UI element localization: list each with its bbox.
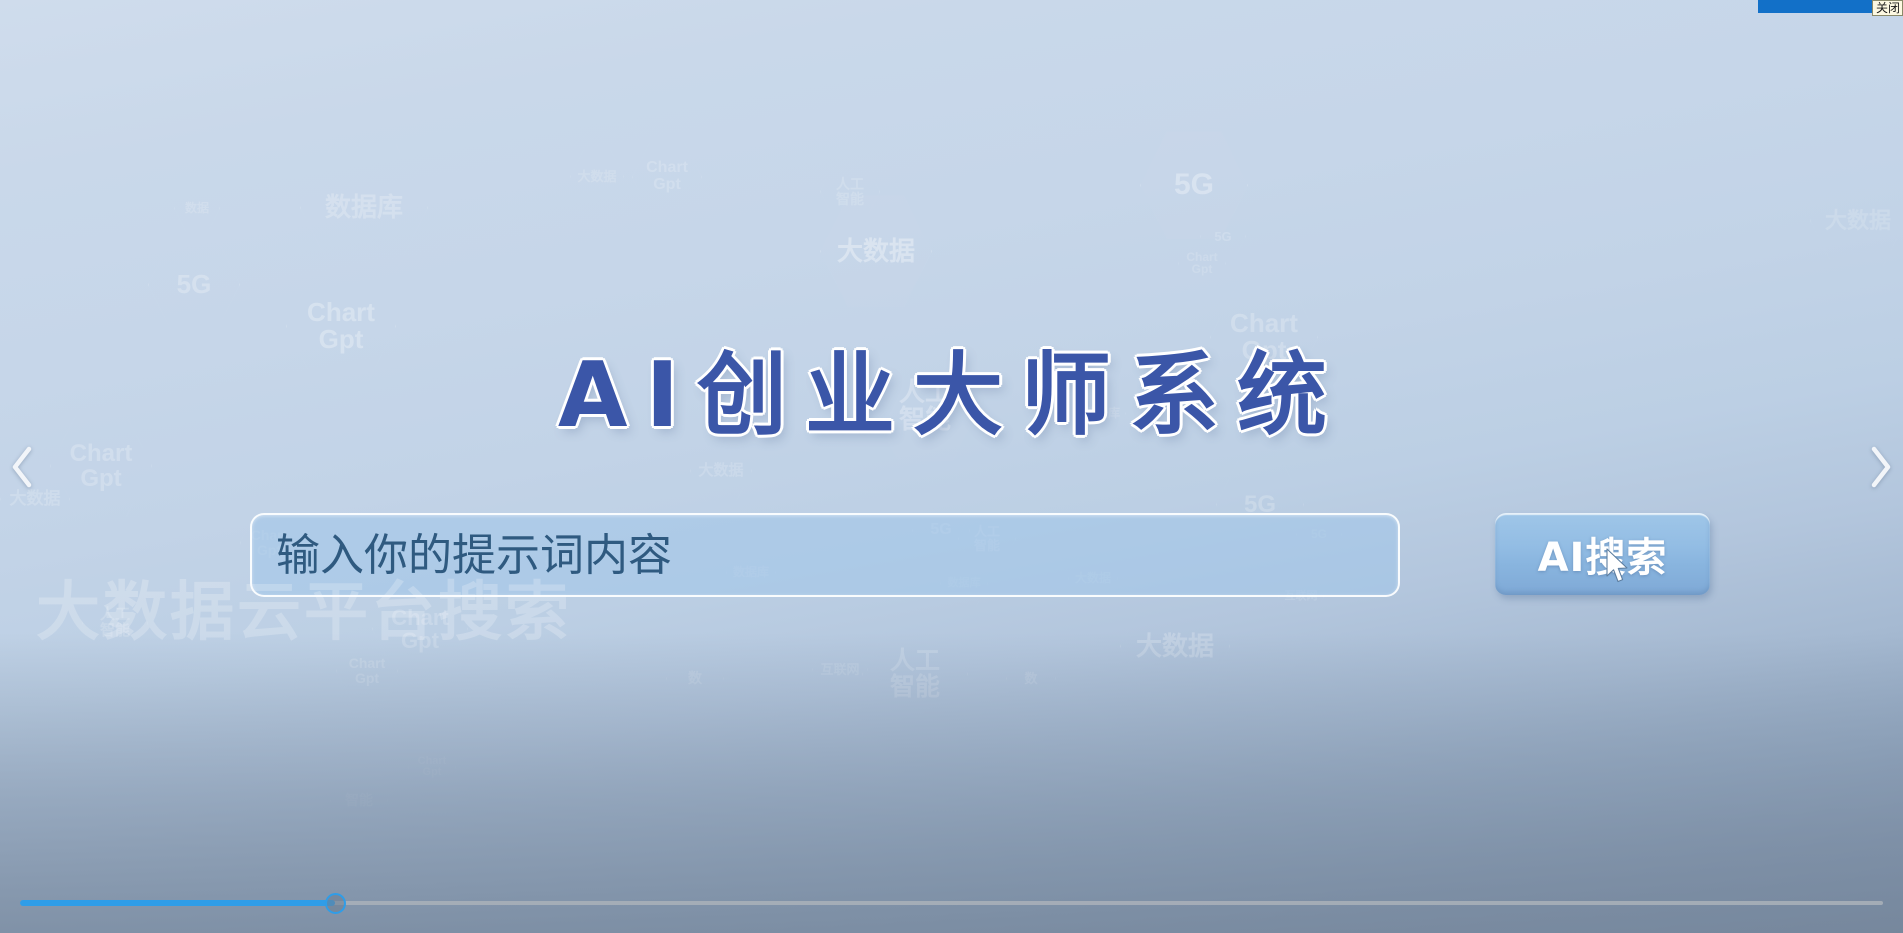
page-title: AI创业大师系统 xyxy=(0,322,1903,452)
watermark-headline: 大数据云平台搜索 xyxy=(36,561,572,653)
slider-fill xyxy=(20,900,335,906)
taskbar-blue-segment[interactable] xyxy=(1758,0,1875,13)
carousel-next-arrow-icon[interactable] xyxy=(1859,432,1903,502)
slider-handle[interactable] xyxy=(325,893,346,914)
progress-slider[interactable] xyxy=(20,893,1883,913)
app-root: 数据库大数据Chart Gpt人工 智能大数据5G大数据5G数据Chart Gp… xyxy=(0,0,1903,933)
ai-search-button[interactable]: AI搜索 xyxy=(1495,513,1710,595)
close-tooltip: 关闭 xyxy=(1872,0,1903,16)
hero-section: AI创业大师系统 AI搜索 大数据云平台搜索 xyxy=(0,0,1903,860)
carousel-prev-arrow-icon[interactable] xyxy=(0,432,44,502)
